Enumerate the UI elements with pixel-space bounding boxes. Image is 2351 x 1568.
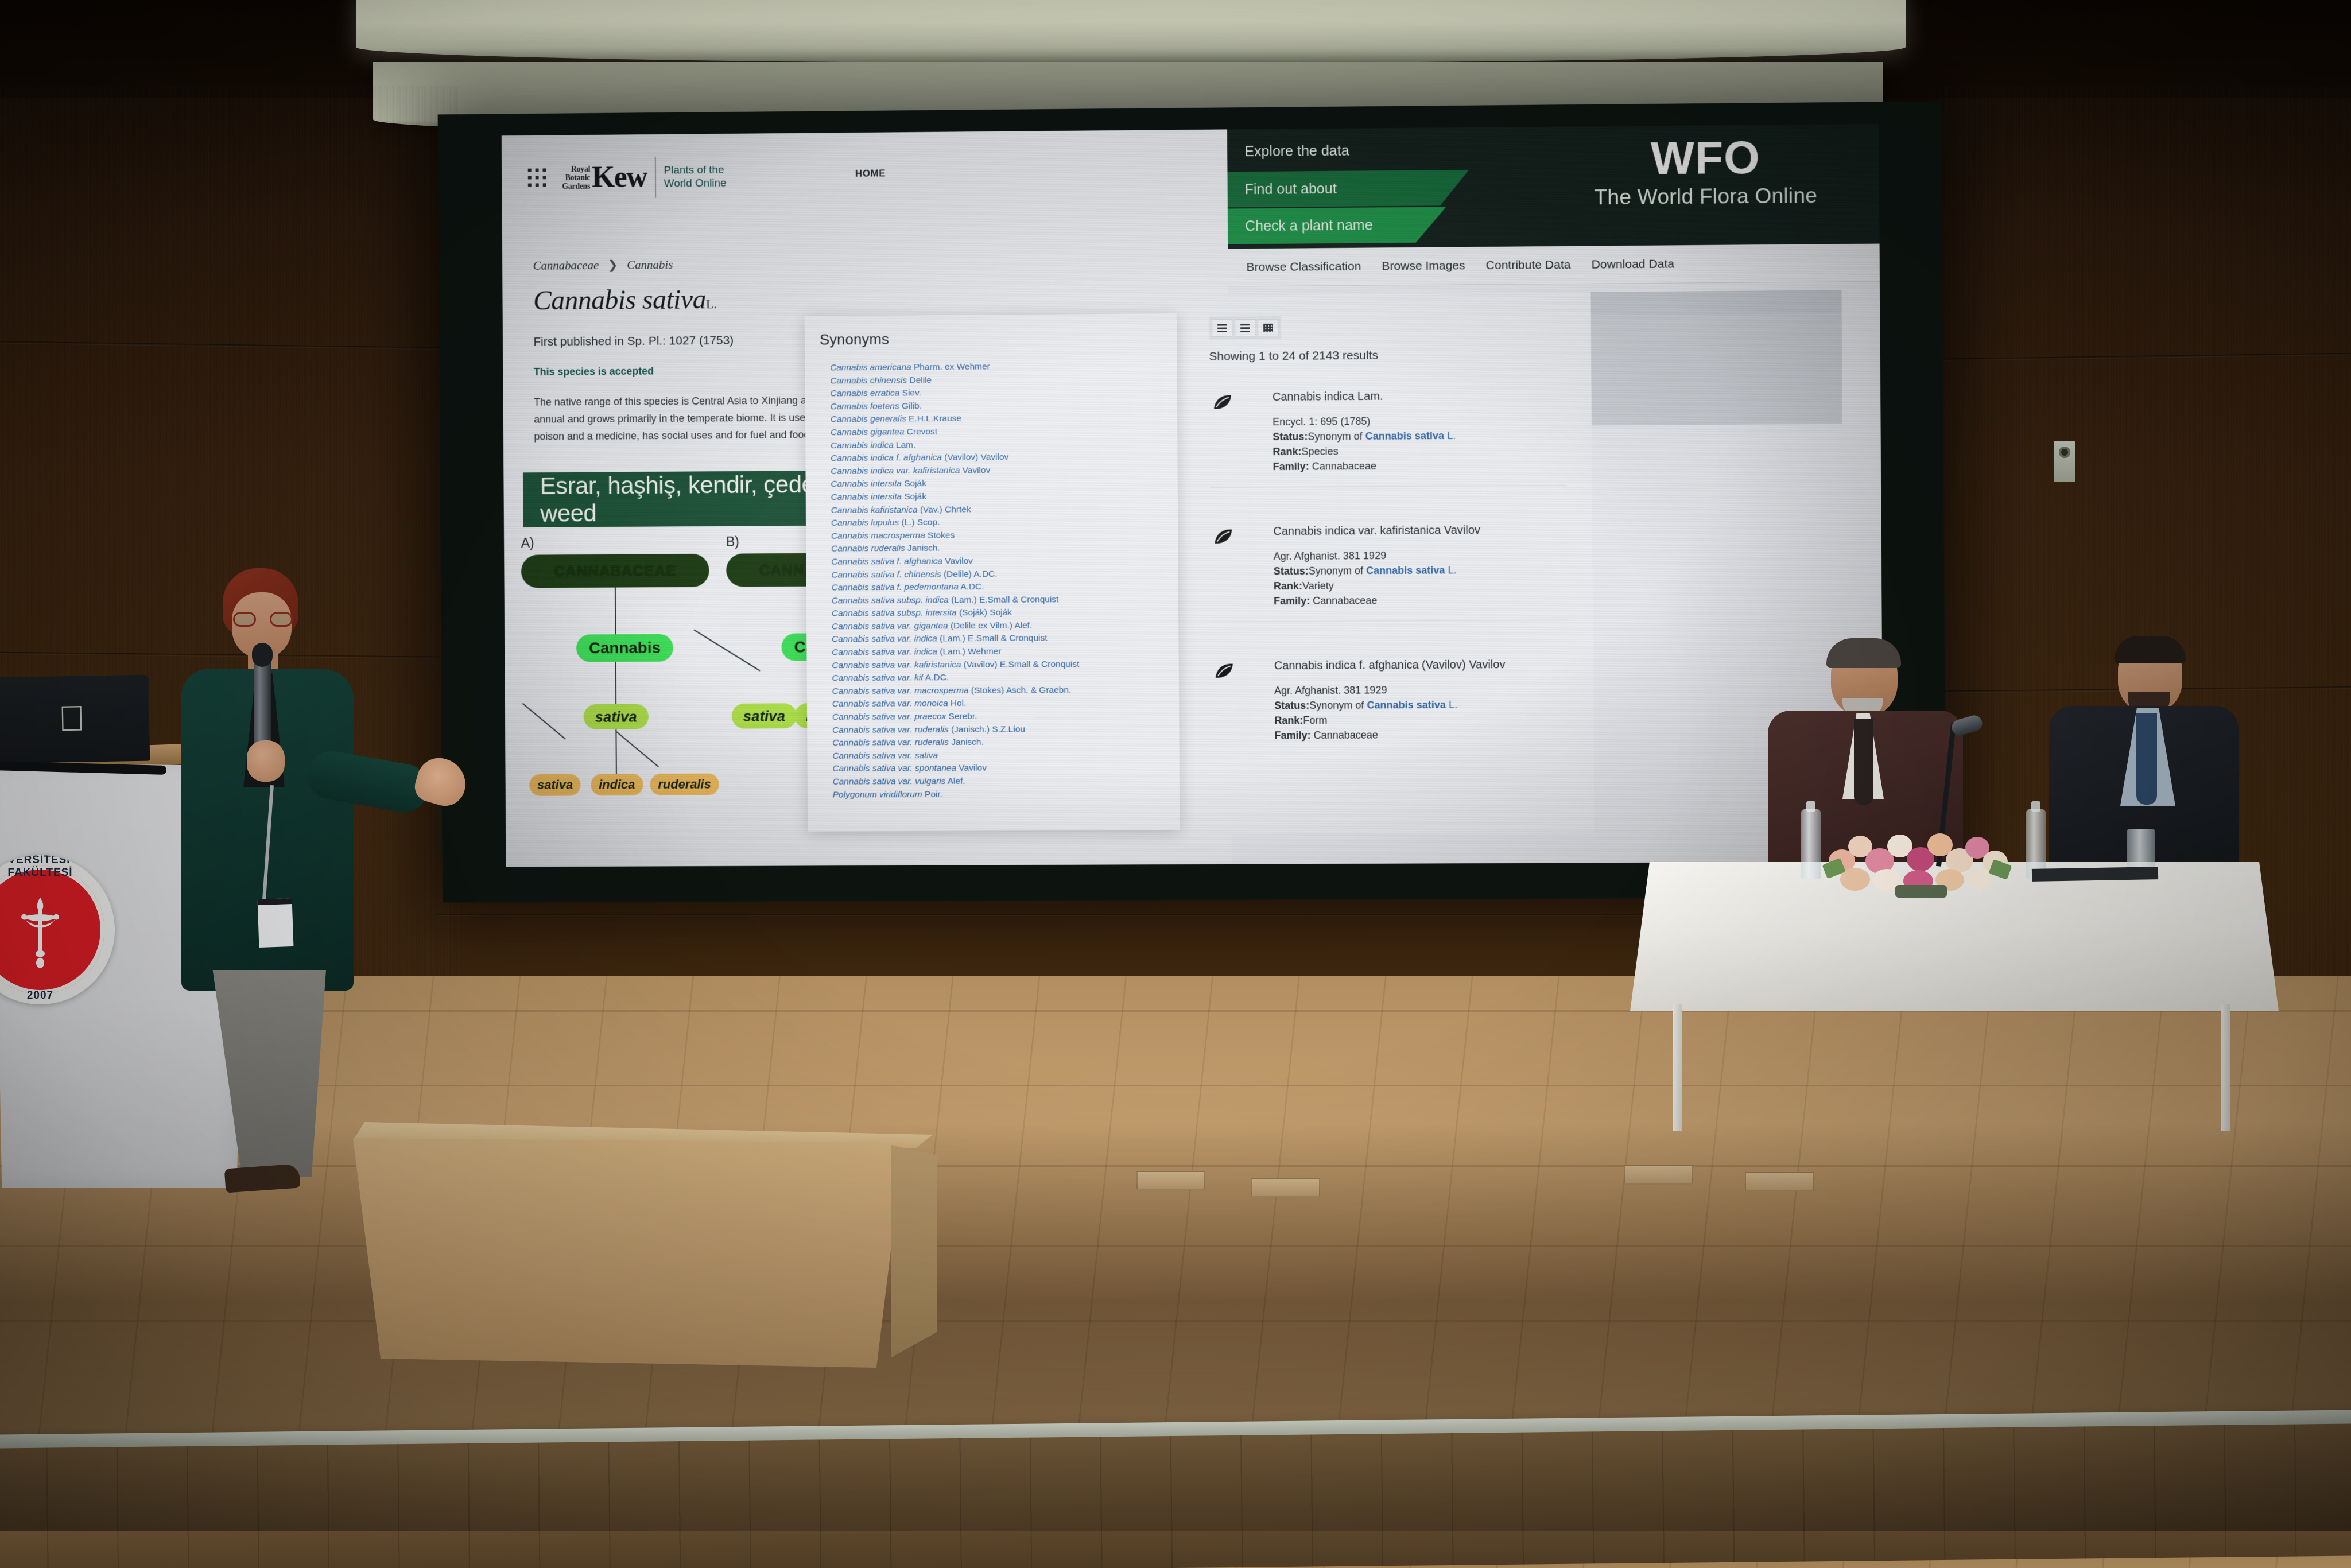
- synonym-authority: Serebr.: [946, 712, 977, 721]
- kew-logo-botanic: Botanic: [562, 173, 590, 182]
- synonym-authority: (Soják) Soják: [957, 608, 1012, 618]
- synonym-item[interactable]: Cannabis sativa var. spontanea Vavilov: [832, 762, 1174, 776]
- synonym-authority: Soják: [902, 479, 926, 488]
- caduceus-icon: [13, 894, 68, 969]
- presenter-name-badge: [258, 898, 294, 948]
- synonym-name: Cannabis indica: [831, 440, 894, 451]
- synonym-authority: (Lam.) E.Small & Cronquist: [937, 634, 1048, 644]
- synonym-name: Cannabis erratica: [830, 389, 899, 399]
- synonym-name: Cannabis sativa f. pedemontana: [831, 582, 959, 592]
- synonym-item[interactable]: Cannabis sativa var. monoica Hol.: [832, 697, 1174, 711]
- diagram-a-species-node-sativa: sativa: [584, 704, 649, 729]
- presenter-left-hand: [247, 740, 285, 782]
- panel-table-group: [1630, 637, 2351, 1136]
- synonym-authority: (Stokes) Asch. & Graebn.: [968, 685, 1071, 696]
- water-bottle-1: [1801, 809, 1821, 879]
- result-family: Family: Cannabaceae: [1274, 592, 1568, 608]
- result-accepted-name[interactable]: Cannabis sativa L.: [1365, 430, 1456, 442]
- results-count: Showing 1 to 24 of 2143 results: [1209, 349, 1378, 364]
- kew-logo-royal: Royal: [562, 165, 590, 173]
- synonym-name: Cannabis lupulus: [831, 518, 899, 528]
- floor-socket-3: [1624, 1165, 1693, 1185]
- synonym-item[interactable]: Cannabis sativa var. ruderalis Janisch.: [832, 735, 1174, 750]
- synonym-authority: Delile: [907, 375, 932, 385]
- diagram-a-subtaxon-ruderalis: ruderalis: [650, 774, 719, 795]
- synonym-item[interactable]: Cannabis sativa f. pedemontana A.DC.: [831, 580, 1173, 595]
- synonym-name: Cannabis intersita: [831, 479, 902, 489]
- wfo-nav-check-a-plant-name[interactable]: Check a plant name: [1228, 207, 1446, 244]
- kew-logo[interactable]: Royal Botanic Gardens Kew Plants of the …: [562, 156, 727, 199]
- flower-arrangement: [1823, 820, 2012, 894]
- wfo-nav-explore-the-data[interactable]: Explore the data: [1227, 132, 1475, 170]
- synonym-name: Cannabis kafiristanica: [831, 504, 918, 515]
- synonym-authority: (Lam.) Wehmer: [937, 647, 1001, 657]
- synonym-name: Cannabis gigantea: [831, 427, 905, 437]
- result-status: Status:Synonym of Cannabis sativa L.: [1274, 697, 1568, 713]
- app-grid-icon[interactable]: [528, 168, 548, 188]
- synonym-name: Polygonum viridiflorum: [833, 790, 922, 800]
- diagram-a-edge-family-genus: [615, 588, 616, 635]
- diagram-a-edge-genus-species: [615, 662, 616, 704]
- synonym-name: Cannabis sativa var. indica: [832, 647, 937, 657]
- kew-logo-gardens: Gardens: [562, 182, 590, 191]
- diagram-a-subtaxon-sativa: sativa: [529, 774, 581, 796]
- leaf-icon: [1213, 528, 1233, 545]
- synonym-item[interactable]: Cannabis sativa var. praecox Serebr.: [832, 709, 1174, 724]
- synonym-authority: Stokes: [925, 530, 955, 540]
- tab-browse-classification[interactable]: Browse Classification: [1246, 259, 1361, 274]
- synonym-name: Cannabis sativa f. afghanica: [831, 556, 942, 566]
- result-status: Status:Synonym of Cannabis sativa L.: [1273, 428, 1566, 444]
- synonym-authority: Vavilov: [942, 556, 973, 566]
- wfo-brand-abbr: WFO: [1549, 132, 1861, 184]
- result-accepted-name[interactable]: Cannabis sativa L.: [1366, 564, 1457, 576]
- result-card[interactable]: Cannabis indica var. kafiristanica Vavil…: [1210, 523, 1568, 622]
- synonym-authority: Janisch.: [905, 544, 940, 553]
- synonym-name: Cannabis sativa var. vulgaris: [832, 777, 945, 787]
- result-name[interactable]: Cannabis indica var. kafiristanica Vavil…: [1273, 523, 1567, 538]
- synonym-item[interactable]: Polygonum viridiflorum Poir.: [833, 787, 1174, 802]
- result-meta: Agr. Afghanist. 381 1929Status:Synonym o…: [1274, 547, 1568, 608]
- wfo-brand: WFO The World Flora Online: [1549, 132, 1861, 212]
- floor-socket-1: [1136, 1171, 1205, 1190]
- wfo-hero: Explore the data Find out about Check a …: [1227, 124, 1880, 249]
- synonym-name: Cannabis sativa var. kafiristanica: [832, 660, 961, 670]
- synonym-authority: Soják: [902, 492, 926, 502]
- synonym-authority: (Lam.) E.Small & Cronquist: [949, 595, 1059, 605]
- diagram-a-genus-node: Cannabis: [576, 634, 673, 662]
- page-title: Cannabis sativaL.: [533, 284, 717, 316]
- result-rank: Rank:Variety: [1274, 577, 1568, 593]
- synonym-item[interactable]: Cannabis sativa var. indica (Lam.) E.Sma…: [832, 632, 1173, 647]
- breadcrumb-genus[interactable]: Cannabis: [627, 258, 673, 273]
- synonym-authority: Janisch.: [949, 738, 984, 747]
- result-citation: Encycl. 1: 695 (1785): [1273, 413, 1566, 429]
- result-meta: Agr. Afghanist. 381 1929Status:Synonym o…: [1274, 682, 1568, 743]
- diagram-b-edge-left: [693, 630, 760, 672]
- result-card[interactable]: Cannabis indica Lam.Encycl. 1: 695 (1785…: [1209, 389, 1567, 487]
- synonym-authority: Lam.: [894, 440, 916, 450]
- synonym-item[interactable]: Cannabis sativa var. indica (Lam.) Wehme…: [832, 645, 1173, 659]
- first-published: First published in Sp. Pl.: 1027 (1753): [533, 334, 734, 349]
- taxonomy-diagram-a: A) CANNABACEAE Cannabis sativa sativa in…: [521, 534, 709, 535]
- synonym-authority: A.DC.: [923, 673, 949, 682]
- synonym-name: Cannabis chinensis: [830, 375, 907, 386]
- synonym-item[interactable]: Cannabis sativa f. chinensis (Delile) A.…: [831, 567, 1173, 582]
- tab-browse-images[interactable]: Browse Images: [1382, 259, 1465, 273]
- status-badge: This species is accepted: [534, 366, 654, 378]
- emblem-arc-top: ÜNİVERSİTESİ TIP FAKÜLTESİ: [0, 855, 115, 879]
- synonym-authority: (Delile) A.DC.: [941, 569, 998, 579]
- kew-subtitle-line1: Plants of the: [664, 164, 727, 177]
- synonym-name: Cannabis sativa var. sativa: [832, 751, 938, 761]
- synonym-name: Cannabis sativa f. chinensis: [831, 569, 941, 580]
- synonym-name: Cannabis indica var. kafiristanica: [831, 465, 960, 476]
- result-rank: Rank:Species: [1273, 443, 1566, 459]
- stage-front-panel: [0, 1423, 2351, 1568]
- diagram-b-species-sativa: sativa: [732, 703, 797, 728]
- synonym-authority: (Vavilov) Vavilov: [942, 452, 1008, 463]
- page-title-name: Cannabis sativa: [533, 284, 706, 316]
- synonym-authority: A.DC.: [959, 582, 984, 592]
- wfo-tab-bar: Browse Classification Browse Images Cont…: [1228, 244, 1880, 287]
- floor-socket-2: [1251, 1178, 1320, 1197]
- diagram-a-family-node: CANNABACEAE: [521, 554, 709, 588]
- diagram-a-edge-mid: [615, 729, 616, 774]
- result-meta: Encycl. 1: 695 (1785)Status:Synonym of C…: [1273, 413, 1566, 474]
- chevron-right-icon: ❯: [608, 258, 618, 273]
- synonym-authority: Hol.: [948, 698, 967, 708]
- synonym-authority: (Delile ex Vilm.) Alef.: [948, 620, 1033, 631]
- synonym-name: Cannabis sativa subsp. intersita: [832, 608, 957, 618]
- synonym-authority: (Vav.) Chrtek: [918, 504, 971, 515]
- synonym-item[interactable]: Cannabis sativa var. kif A.DC.: [832, 670, 1173, 685]
- synonym-name: Cannabis macrosperma: [831, 530, 925, 541]
- synonym-authority: Poir.: [922, 789, 942, 799]
- synonym-authority: Pharm. ex Wehmer: [911, 362, 990, 372]
- diagram-a-edge-right: [615, 731, 659, 767]
- result-family: Family: Cannabaceae: [1273, 457, 1567, 474]
- kew-subtitle-line2: World Online: [664, 177, 727, 191]
- compact-view-icon[interactable]: [1235, 319, 1255, 336]
- result-card[interactable]: Cannabis indica f. afghanica (Vavilov) V…: [1211, 658, 1569, 756]
- synonym-item[interactable]: Cannabis sativa f. afghanica Vavilov: [831, 554, 1173, 569]
- page-title-authority: L.: [706, 297, 717, 311]
- synonym-name: Cannabis ruderalis: [831, 544, 905, 554]
- diagram-a-subtaxon-indica: indica: [591, 774, 643, 795]
- synonym-item[interactable]: Cannabis sativa subsp. intersita (Soják)…: [832, 606, 1173, 620]
- synonym-item[interactable]: Cannabis sativa var. vulgaris Alef.: [832, 774, 1174, 789]
- tab-download-data[interactable]: Download Data: [1592, 257, 1675, 271]
- diagram-a-label: A): [521, 535, 534, 551]
- wall-sensor-icon: [2054, 441, 2075, 482]
- tab-contribute-data[interactable]: Contribute Data: [1486, 258, 1571, 272]
- synonyms-heading: Synonyms: [820, 331, 889, 349]
- synonym-item[interactable]: Cannabis sativa var. ruderalis (Janisch.…: [832, 723, 1174, 737]
- view-mode-switcher[interactable]: [1209, 316, 1281, 340]
- result-citation: Agr. Afghanist. 381 1929: [1274, 682, 1568, 698]
- synonym-authority: (Janisch.) S.Z.Liou: [949, 724, 1025, 735]
- synonym-name: Cannabis indica f. afghanica: [831, 453, 942, 463]
- synonym-name: Cannabis intersita: [831, 492, 902, 502]
- synonym-item[interactable]: Cannabis sativa var. sativa: [832, 748, 1174, 763]
- result-name[interactable]: Cannabis indica Lam.: [1273, 389, 1566, 404]
- grid-view-icon[interactable]: [1258, 319, 1278, 336]
- synonym-name: Cannabis sativa var. spontanea: [832, 763, 956, 774]
- presenter-laptop: : [0, 675, 150, 764]
- result-status: Status:Synonym of Cannabis sativa L.: [1274, 562, 1568, 579]
- leaf-icon: [1213, 393, 1232, 410]
- synonym-authority: E.H.L.Krause: [906, 414, 961, 424]
- synonym-name: Cannabis generalis: [831, 414, 906, 425]
- synonym-name: Cannabis sativa var. praecox: [832, 712, 946, 722]
- wooden-planter-box: [353, 1122, 933, 1369]
- synonym-authority: Vavilov: [956, 763, 987, 773]
- synonyms-list: Cannabis americana Pharm. ex WehmerCanna…: [830, 359, 1174, 802]
- synonym-authority: Gilib.: [899, 401, 922, 411]
- wfo-brand-name: The World Flora Online: [1550, 181, 1862, 212]
- apple-logo: : [58, 701, 86, 738]
- wfo-results-column: Showing 1 to 24 of 2143 results Cannabis…: [1188, 292, 1595, 835]
- synonym-name: Cannabis sativa var. gigantea: [832, 621, 948, 631]
- synonym-name: Cannabis sativa subsp. indica: [832, 595, 949, 606]
- result-citation: Agr. Afghanist. 381 1929: [1274, 547, 1568, 564]
- result-body: Cannabis indica var. kafiristanica Vavil…: [1273, 523, 1567, 608]
- floor-socket-4: [1745, 1172, 1814, 1191]
- emblem-arc-bottom: 2007: [0, 989, 115, 1002]
- synonym-name: Cannabis sativa var. indica: [832, 634, 937, 645]
- table-document: [2032, 867, 2158, 882]
- kew-nav-home[interactable]: HOME: [855, 168, 886, 179]
- synonym-authority: (Vavilov) E.Small & Cronquist: [961, 659, 1079, 670]
- synonym-authority: Crevost: [904, 427, 937, 437]
- wfo-nav-find-out-about[interactable]: Find out about: [1227, 170, 1469, 208]
- ceiling-cove-light: [356, 0, 1906, 63]
- result-name[interactable]: Cannabis indica f. afghanica (Vavilov) V…: [1274, 658, 1568, 673]
- synonym-name: Cannabis sativa var. monoica: [832, 698, 948, 709]
- synonym-authority: Siev.: [899, 388, 921, 398]
- breadcrumb-family[interactable]: Cannabaceae: [533, 258, 599, 273]
- synonym-item[interactable]: Cannabis sativa var. macrosperma (Stokes…: [832, 684, 1174, 698]
- synonym-authority: (L.) Scop.: [899, 518, 940, 527]
- synonyms-panel: Synonyms Cannabis americana Pharm. ex We…: [805, 313, 1180, 831]
- presenter-glasses: [233, 612, 293, 627]
- synonym-authority: Alef.: [945, 777, 965, 786]
- synonym-name: Cannabis foetens: [831, 401, 899, 412]
- synonym-name: Cannabis sativa var. macrosperma: [832, 686, 969, 696]
- synonym-name: Cannabis sativa var. ruderalis: [832, 725, 949, 735]
- list-view-icon[interactable]: [1212, 319, 1232, 336]
- diagram-b-label: B): [726, 534, 739, 550]
- conference-hall-scene: Royal Botanic Gardens Kew Plants of the …: [0, 0, 2351, 1568]
- leaf-icon: [1215, 662, 1234, 680]
- result-accepted-name[interactable]: Cannabis sativa L.: [1367, 699, 1457, 711]
- synonym-item[interactable]: Cannabis sativa subsp. indica (Lam.) E.S…: [832, 593, 1173, 608]
- kew-wordmark: Kew: [592, 165, 647, 191]
- result-family: Family: Cannabaceae: [1274, 727, 1568, 743]
- synonym-name: Cannabis americana: [830, 362, 911, 372]
- result-body: Cannabis indica Lam.Encycl. 1: 695 (1785…: [1273, 389, 1566, 474]
- synonym-authority: Vavilov: [960, 465, 990, 475]
- synonym-item[interactable]: Cannabis sativa var. gigantea (Delile ex…: [832, 619, 1173, 634]
- presenter-person: [172, 568, 413, 1200]
- kew-logo-divider: [655, 157, 656, 198]
- synonym-name: Cannabis sativa var. ruderalis: [832, 738, 949, 748]
- synonym-name: Cannabis sativa var. kif: [832, 673, 923, 684]
- result-rank: Rank:Form: [1274, 712, 1568, 728]
- result-body: Cannabis indica f. afghanica (Vavilov) V…: [1274, 658, 1568, 743]
- diagram-a-edge-left: [522, 703, 566, 740]
- synonym-item[interactable]: Cannabis sativa var. kafiristanica (Vavi…: [832, 658, 1173, 673]
- breadcrumb: Cannabaceae ❯ Cannabis: [533, 258, 673, 273]
